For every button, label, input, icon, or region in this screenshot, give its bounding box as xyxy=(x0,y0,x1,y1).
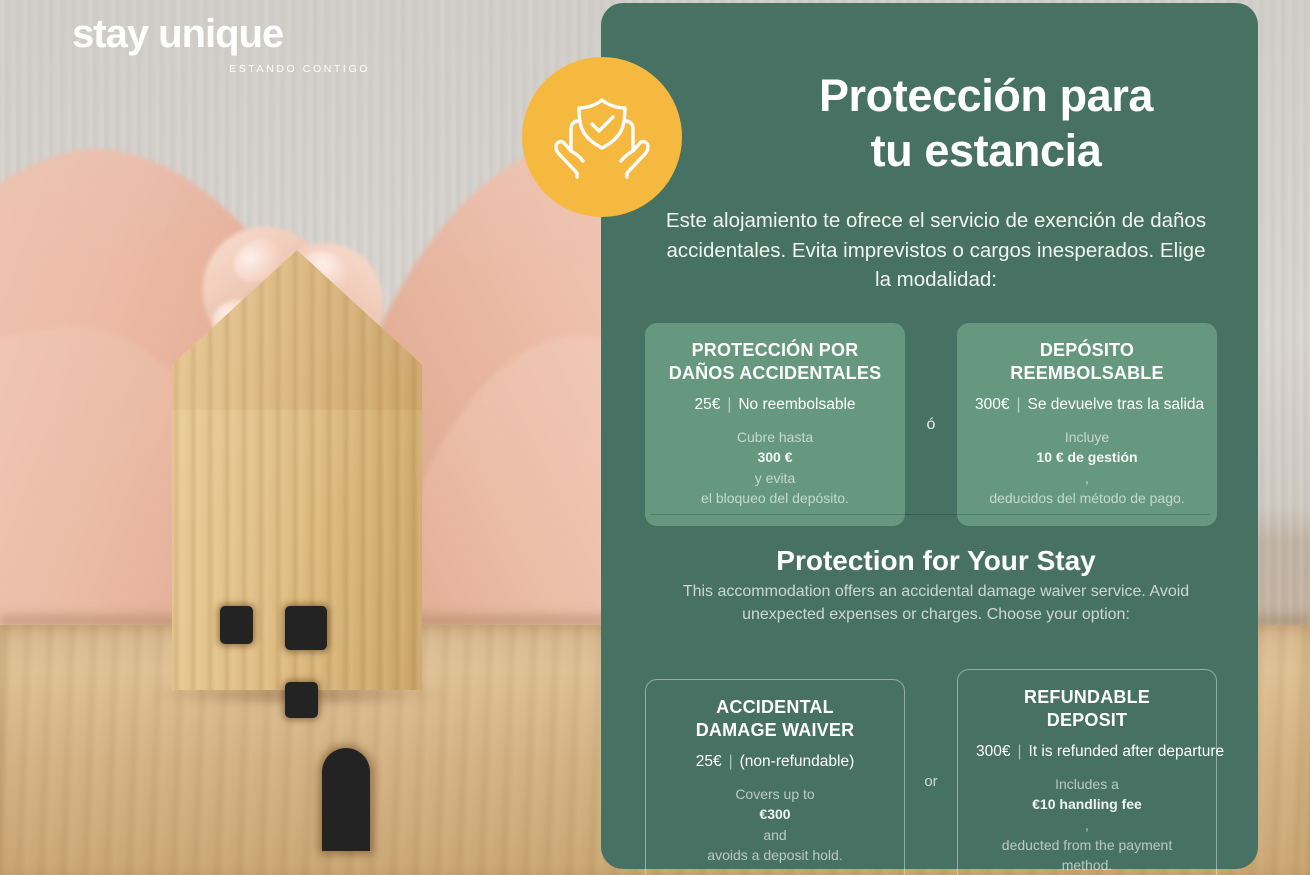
panel-content: Protección para tu estancia Este alojami… xyxy=(601,3,1258,869)
card-title: PROTECCIÓN POR DAÑOS ACCIDENTALES xyxy=(663,339,887,384)
note-suffix: and xyxy=(664,825,886,845)
card-price: 300€ xyxy=(975,396,1009,413)
spanish-options-row: PROTECCIÓN POR DAÑOS ACCIDENTALES 25€|No… xyxy=(645,323,1217,526)
card-title-line2: REEMBOLSABLE xyxy=(975,362,1199,385)
note-suffix: y evita xyxy=(663,468,887,488)
card-note-line1: Cubre hasta 300 € y evita xyxy=(663,427,887,488)
page-title-line1: Protección para xyxy=(751,69,1221,124)
note-prefix: Incluye xyxy=(975,427,1199,447)
note-prefix: Includes a xyxy=(976,774,1198,794)
card-title: REFUNDABLE DEPOSIT xyxy=(976,686,1198,731)
card-price-line: 300€|It is refunded after departure xyxy=(976,743,1198,761)
card-title-line2: DAÑOS ACCIDENTALES xyxy=(663,362,887,385)
card-title-line2: DAMAGE WAIVER xyxy=(664,719,886,742)
card-note: Cubre hasta 300 € y evita el bloqueo del… xyxy=(663,427,887,508)
card-title: ACCIDENTAL DAMAGE WAIVER xyxy=(664,696,886,741)
logo-tagline: ESTANDO CONTIGO xyxy=(72,63,372,75)
note-highlight: €10 handling fee xyxy=(1032,796,1142,812)
card-note: Incluye 10 € de gestión, deducidos del m… xyxy=(975,427,1199,508)
price-separator: | xyxy=(727,396,731,413)
page-title-line2: tu estancia xyxy=(751,124,1221,179)
english-option-deposit[interactable]: REFUNDABLE DEPOSIT 300€|It is refunded a… xyxy=(957,669,1217,875)
card-note-line1: Includes a €10 handling fee, xyxy=(976,774,1198,835)
section-divider xyxy=(650,514,1210,515)
english-intro-text: This accommodation offers an accidental … xyxy=(681,581,1191,626)
logo-wordmark: stay unique xyxy=(72,14,372,54)
promo-banner: stay unique ESTANDO CONTIGO Protección p… xyxy=(0,0,1310,875)
card-title-line1: REFUNDABLE xyxy=(976,686,1198,709)
card-note-line1: Incluye 10 € de gestión, xyxy=(975,427,1199,488)
note-suffix: , xyxy=(976,815,1198,835)
note-highlight: 10 € de gestión xyxy=(1036,449,1137,465)
english-title: Protection for Your Stay xyxy=(656,545,1216,577)
card-terms: (non-refundable) xyxy=(740,753,855,770)
card-title-line1: PROTECCIÓN POR xyxy=(663,339,887,362)
english-options-row: ACCIDENTAL DAMAGE WAIVER 25€|(non-refund… xyxy=(645,669,1217,875)
english-option-waiver[interactable]: ACCIDENTAL DAMAGE WAIVER 25€|(non-refund… xyxy=(645,679,905,875)
spanish-separator: ó xyxy=(905,416,957,434)
card-price: 25€ xyxy=(696,753,722,770)
card-terms: Se devuelve tras la salida xyxy=(1028,396,1205,413)
card-terms: No reembolsable xyxy=(738,396,855,413)
card-note-line1: Covers up to €300 and xyxy=(664,784,886,845)
card-note-line2: avoids a deposit hold. xyxy=(664,845,886,865)
english-separator: or xyxy=(905,773,957,790)
page-title: Protección para tu estancia xyxy=(751,69,1221,179)
card-price-line: 25€|(non-refundable) xyxy=(664,753,886,771)
note-highlight: €300 xyxy=(759,806,790,822)
note-prefix: Covers up to xyxy=(664,784,886,804)
card-terms: It is refunded after departure xyxy=(1029,743,1225,760)
spanish-intro-text: Este alojamiento te ofrece el servicio d… xyxy=(656,206,1216,295)
card-note: Includes a €10 handling fee, deducted fr… xyxy=(976,774,1198,875)
spanish-option-waiver[interactable]: PROTECCIÓN POR DAÑOS ACCIDENTALES 25€|No… xyxy=(645,323,905,526)
price-separator: | xyxy=(729,753,733,770)
spanish-option-deposit[interactable]: DEPÓSITO REEMBOLSABLE 300€|Se devuelve t… xyxy=(957,323,1217,526)
card-title-line1: ACCIDENTAL xyxy=(664,696,886,719)
note-prefix: Cubre hasta xyxy=(663,427,887,447)
card-title: DEPÓSITO REEMBOLSABLE xyxy=(975,339,1199,384)
card-note-line2: el bloqueo del depósito. xyxy=(663,488,887,508)
card-price-line: 25€|No reembolsable xyxy=(663,396,887,414)
note-highlight: 300 € xyxy=(757,449,792,465)
price-separator: | xyxy=(1016,396,1020,413)
brand-logo: stay unique ESTANDO CONTIGO xyxy=(72,14,372,75)
price-separator: | xyxy=(1017,743,1021,760)
card-price: 25€ xyxy=(694,396,720,413)
note-suffix: , xyxy=(975,468,1199,488)
card-note: Covers up to €300 and avoids a deposit h… xyxy=(664,784,886,865)
card-note-line2: deducidos del método de pago. xyxy=(975,488,1199,508)
card-price-line: 300€|Se devuelve tras la salida xyxy=(975,396,1199,414)
card-title-line2: DEPOSIT xyxy=(976,709,1198,732)
card-title-line1: DEPÓSITO xyxy=(975,339,1199,362)
card-price: 300€ xyxy=(976,743,1010,760)
card-note-line2: deducted from the payment method. xyxy=(976,835,1198,875)
